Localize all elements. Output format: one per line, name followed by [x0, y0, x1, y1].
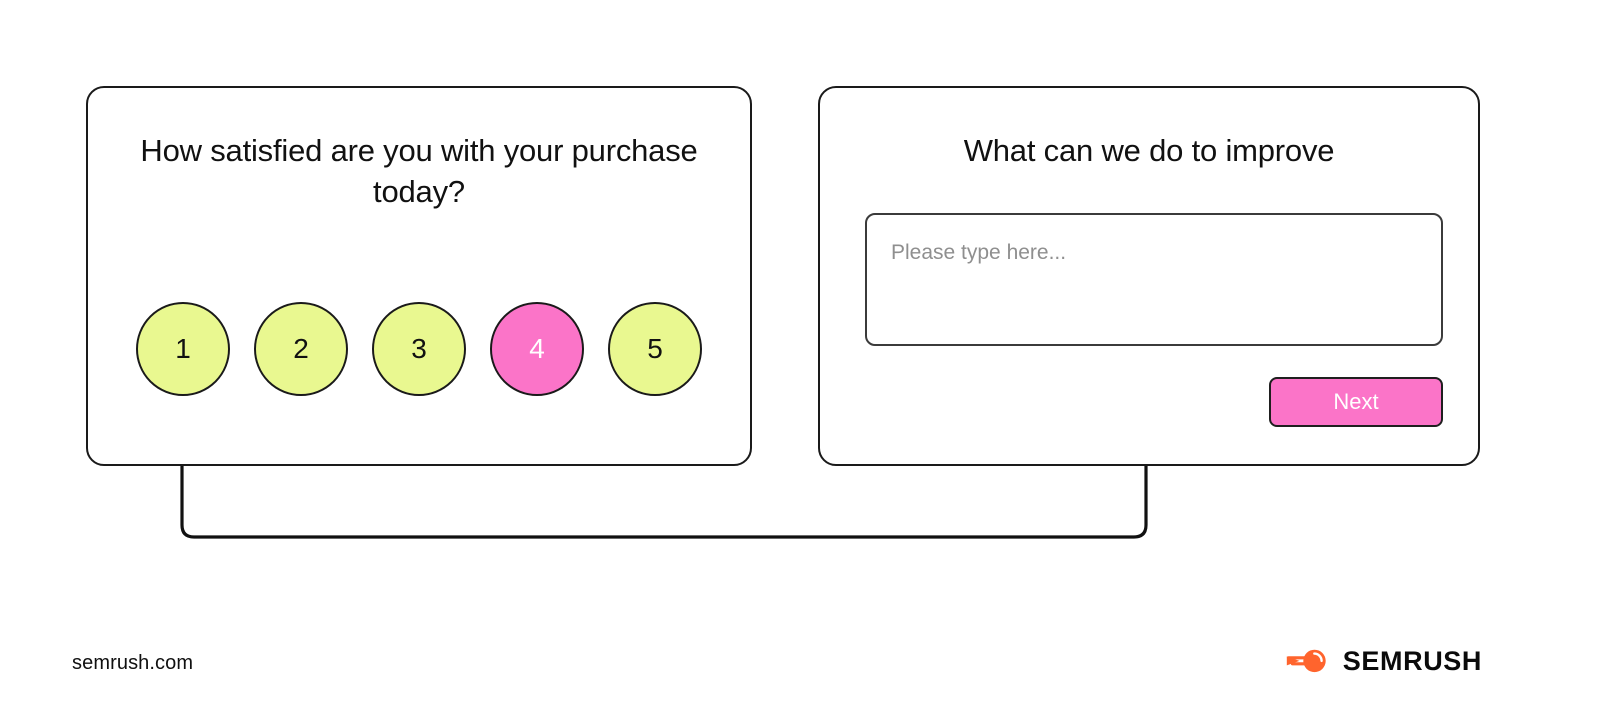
satisfaction-question-title: How satisfied are you with your purchase…	[128, 130, 710, 212]
next-button[interactable]: Next	[1269, 377, 1443, 427]
rating-option-1[interactable]: 1	[136, 302, 230, 396]
semrush-wordmark: SEMRUSH	[1343, 646, 1482, 677]
rating-option-5[interactable]: 5	[608, 302, 702, 396]
slide-canvas: How satisfied are you with your purchase…	[0, 0, 1600, 724]
improvement-question-title: What can we do to improve	[860, 130, 1438, 171]
rating-option-4-label: 4	[529, 335, 545, 363]
satisfaction-question-card: How satisfied are you with your purchase…	[86, 86, 752, 466]
rating-option-5-label: 5	[647, 335, 663, 363]
source-url: semrush.com	[72, 652, 193, 675]
rating-option-4[interactable]: 4	[490, 302, 584, 396]
rating-option-2-label: 2	[293, 335, 309, 363]
rating-option-3-label: 3	[411, 335, 427, 363]
semrush-comet-icon	[1286, 645, 1330, 677]
rating-option-3[interactable]: 3	[372, 302, 466, 396]
feedback-textarea[interactable]	[865, 213, 1443, 346]
semrush-logo: SEMRUSH	[1286, 645, 1482, 677]
rating-scale: 1 2 3 4 5	[136, 302, 702, 396]
improvement-question-card: What can we do to improve Next	[818, 86, 1480, 466]
rating-option-1-label: 1	[175, 335, 191, 363]
rating-option-2[interactable]: 2	[254, 302, 348, 396]
